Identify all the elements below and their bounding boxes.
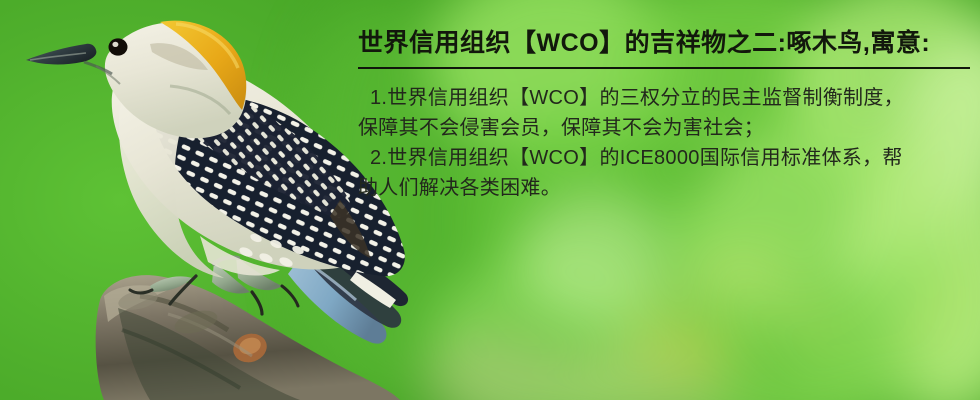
list-item-line: 助人们解决各类困难。	[358, 173, 970, 203]
title-divider	[358, 67, 970, 69]
page-title: 世界信用组织【WCO】的吉祥物之二:啄木鸟,寓意:	[358, 28, 970, 59]
list-item-line: 2.世界信用组织【WCO】的ICE8000国际信用标准体系，帮	[370, 143, 970, 173]
wco-mascot-banner: 世界信用组织【WCO】的吉祥物之二:啄木鸟,寓意: 1.世界信用组织【WCO】的…	[0, 0, 980, 400]
mascot-meaning-list: 1.世界信用组织【WCO】的三权分立的民主监督制衡制度， 保障其不会侵害会员，保…	[358, 83, 970, 203]
list-item: 1.世界信用组织【WCO】的三权分立的民主监督制衡制度， 保障其不会侵害会员，保…	[358, 83, 970, 143]
list-item-line: 保障其不会侵害会员，保障其不会为害社会；	[358, 113, 970, 143]
bird-eye	[109, 38, 128, 55]
list-item-line: 1.世界信用组织【WCO】的三权分立的民主监督制衡制度，	[370, 83, 970, 113]
banner-text-panel: 世界信用组织【WCO】的吉祥物之二:啄木鸟,寓意: 1.世界信用组织【WCO】的…	[340, 0, 980, 400]
list-item: 2.世界信用组织【WCO】的ICE8000国际信用标准体系，帮 助人们解决各类困…	[358, 143, 970, 203]
